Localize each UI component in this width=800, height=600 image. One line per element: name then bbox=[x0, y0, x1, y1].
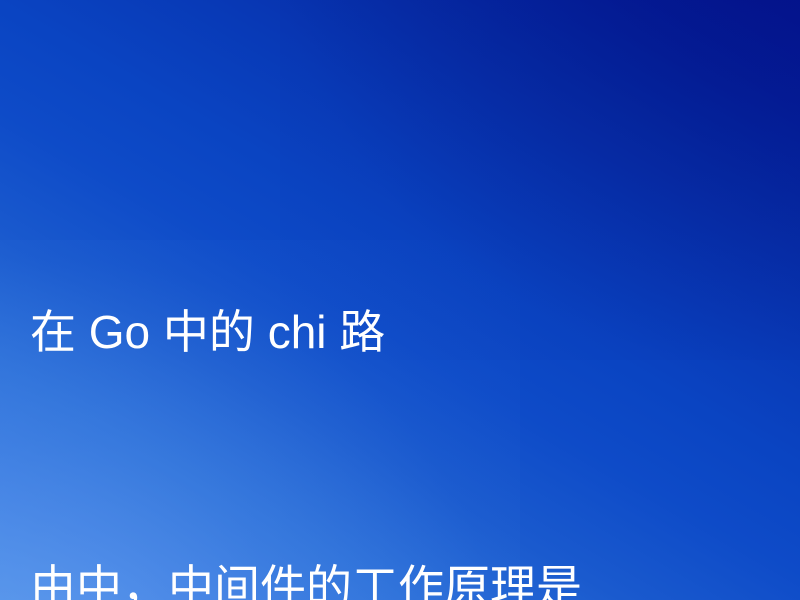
question-card: 在 Go 中的 chi 路 由中，中间件的工作原理是 什么？http.Hand … bbox=[0, 0, 800, 600]
question-text-block: 在 Go 中的 chi 路 由中，中间件的工作原理是 什么？http.Hand … bbox=[30, 120, 780, 600]
question-line-2: 由中，中间件的工作原理是 bbox=[30, 545, 780, 600]
question-line-1: 在 Go 中的 chi 路 bbox=[30, 290, 780, 375]
